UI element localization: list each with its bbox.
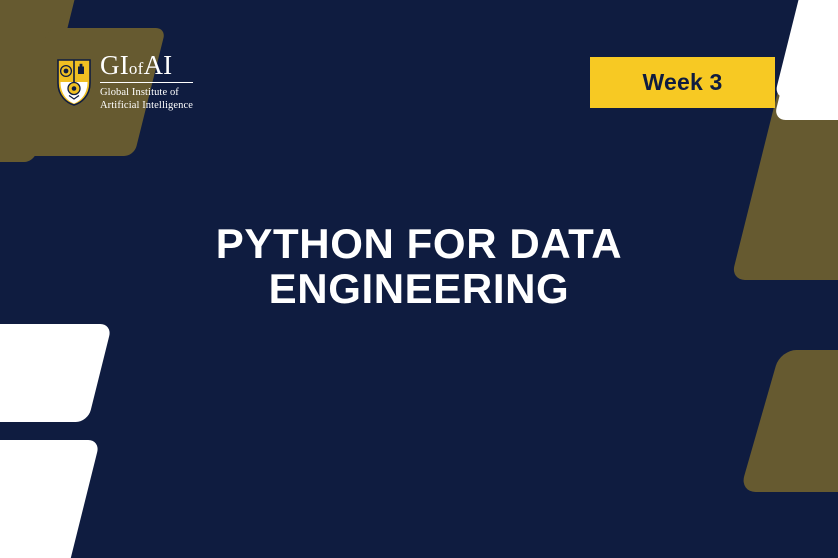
decor-top-right-white-2 xyxy=(774,52,838,120)
decor-bottom-left-white-2 xyxy=(0,440,100,558)
logo-wordmark: GIofAI xyxy=(100,52,193,79)
slide-title: Python for Data Engineering xyxy=(204,222,634,311)
decor-bottom-left-white-1 xyxy=(0,324,112,422)
logo-text-block: GIofAI Global Institute of Artificial In… xyxy=(100,52,193,112)
decor-bottom-right-olive xyxy=(740,350,838,492)
brand-logo: GIofAI Global Institute of Artificial In… xyxy=(57,52,193,112)
week-badge-label: Week 3 xyxy=(642,69,722,96)
logo-divider xyxy=(100,82,193,83)
shield-crest-icon xyxy=(57,58,91,106)
week-badge: Week 3 xyxy=(590,57,775,108)
presentation-slide: GIofAI Global Institute of Artificial In… xyxy=(0,0,838,558)
logo-wordmark-of: of xyxy=(129,59,144,78)
logo-subtitle-line-1: Global Institute of xyxy=(100,86,193,99)
title-container: Python for Data Engineering xyxy=(0,222,838,311)
logo-subtitle-line-2: Artificial Intelligence xyxy=(100,99,193,112)
logo-wordmark-ai: AI xyxy=(143,50,172,80)
logo-wordmark-gi: GI xyxy=(100,50,129,80)
decor-top-right-white-1 xyxy=(774,0,838,98)
